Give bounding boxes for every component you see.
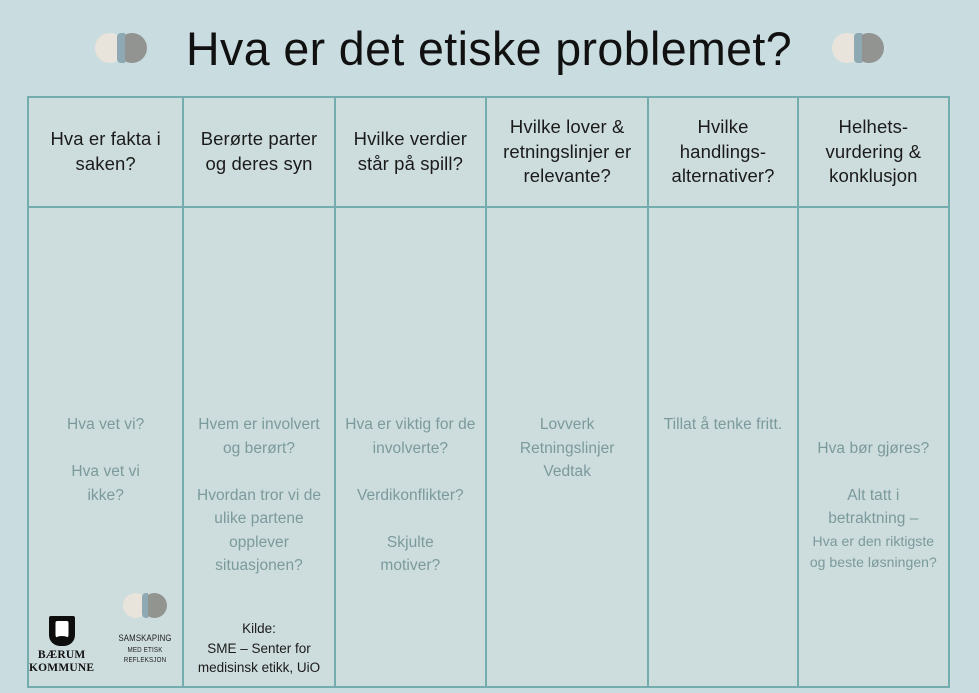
header-label: Hvilke lover & retningslinjer er relevan… xyxy=(493,115,641,189)
table-body-row: Hva vet vi? Hva vet vi ikke? BÆRUM KOMMU… xyxy=(29,208,948,686)
samskaping-wordmark-line2: MED ETISK REFLEKSJON xyxy=(115,645,176,664)
page-title: Hva er det etiske problemet? xyxy=(187,25,793,72)
baerum-shield-icon xyxy=(49,616,75,646)
circle-overlap-shape xyxy=(117,33,125,63)
header-label: Hvilke verdier står på spill? xyxy=(342,127,479,176)
cell-placeholder-text: Hva bør gjøres? Alt tatt i betraktning –… xyxy=(810,413,937,596)
baerum-wordmark: BÆRUM KOMMUNE xyxy=(29,649,94,676)
cell-placeholder-main: Hva bør gjøres? Alt tatt i betraktning – xyxy=(817,440,929,528)
source-note: Kilde: SME – Senter for medisinsk etikk,… xyxy=(198,619,320,678)
samskaping-logo: SAMSKAPING MED ETISK REFLEKSJON xyxy=(108,593,182,676)
table-header-cell-konklusjon: Helhets- vurdering & konklusjon xyxy=(799,98,948,206)
circle-overlap-shape xyxy=(142,593,148,618)
cell-placeholder-text: Hvem er involvert og berørt? Hvordan tro… xyxy=(197,413,321,578)
table-header-cell-parter: Berørte parter og deres syn xyxy=(184,98,335,206)
table-cell-lover[interactable]: Lovverk Retningslinjer Vedtak xyxy=(487,208,649,686)
brand-row: BÆRUM KOMMUNE SAMSKAPING MED ETISK REFLE… xyxy=(29,593,182,678)
table-cell-verdier[interactable]: Hva er viktig for de involverte? Verdiko… xyxy=(336,208,487,686)
samskaping-wordmark: SAMSKAPING MED ETISK REFLEKSJON xyxy=(115,621,176,676)
table-header-cell-lover: Hvilke lover & retningslinjer er relevan… xyxy=(487,98,649,206)
header-label: Berørte parter og deres syn xyxy=(190,127,327,176)
header-label: Helhets- vurdering & konklusjon xyxy=(805,115,942,189)
table-header-row: Hva er fakta i saken? Berørte parter og … xyxy=(29,98,948,208)
table-header-cell-verdier: Hvilke verdier står på spill? xyxy=(336,98,487,206)
table-cell-fakta[interactable]: Hva vet vi? Hva vet vi ikke? BÆRUM KOMMU… xyxy=(29,208,184,686)
table-header-cell-fakta: Hva er fakta i saken? xyxy=(29,98,184,206)
cell-placeholder-text: Hva vet vi? Hva vet vi ikke? xyxy=(67,413,144,507)
overlapping-circles-icon xyxy=(832,33,884,63)
source-footer: Kilde: SME – Senter for medisinsk etikk,… xyxy=(184,619,333,678)
cell-placeholder-text: Tillat å tenke fritt. xyxy=(664,413,783,437)
brand-footer: BÆRUM KOMMUNE SAMSKAPING MED ETISK REFLE… xyxy=(29,593,182,678)
table-cell-parter[interactable]: Hvem er involvert og berørt? Hvordan tro… xyxy=(184,208,335,686)
ethics-reflection-table: Hva er fakta i saken? Berørte parter og … xyxy=(27,96,950,688)
table-cell-handlingsalternativer[interactable]: Tillat å tenke fritt. xyxy=(649,208,798,686)
baerum-kommune-logo: BÆRUM KOMMUNE xyxy=(29,616,94,676)
cell-placeholder-text: Lovverk Retningslinjer Vedtak xyxy=(520,413,615,484)
samskaping-wordmark-line1: SAMSKAPING xyxy=(119,633,172,644)
header-label: Hva er fakta i saken? xyxy=(35,127,176,176)
cell-placeholder-secondary: Hva er den riktigste og beste løsningen? xyxy=(810,531,937,573)
cell-placeholder-text: Hva er viktig for de involverte? Verdiko… xyxy=(345,413,475,578)
table-header-cell-handlingsalternativer: Hvilke handlings- alternativer? xyxy=(649,98,798,206)
table-cell-konklusjon[interactable]: Hva bør gjøres? Alt tatt i betraktning –… xyxy=(799,208,948,686)
header-label: Hvilke handlings- alternativer? xyxy=(655,115,790,189)
title-bar: Hva er det etiske problemet? xyxy=(0,0,979,96)
overlapping-circles-icon xyxy=(95,33,147,63)
overlapping-circles-icon xyxy=(123,593,167,618)
circle-overlap-shape xyxy=(854,33,862,63)
